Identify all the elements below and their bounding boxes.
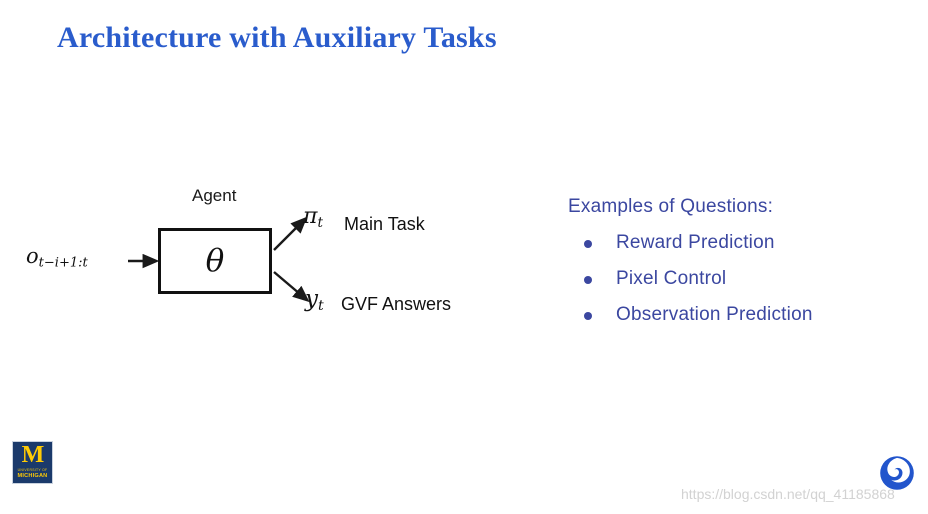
gvf-symbol-base: y — [305, 286, 318, 312]
bullet-icon — [584, 276, 592, 284]
list-item: Pixel Control — [568, 268, 908, 290]
list-item: Observation Prediction — [568, 304, 908, 326]
observation-input-label: ot−i+1:t — [26, 244, 88, 271]
watermark-text: https://blog.csdn.net/qq_41185868 — [681, 486, 895, 502]
questions-panel: Examples of Questions: Reward Prediction… — [568, 196, 908, 340]
main-task-label: Main Task — [344, 214, 425, 235]
bullet-icon — [584, 240, 592, 248]
questions-heading: Examples of Questions: — [568, 196, 908, 218]
observation-subscript: t−i+1:t — [39, 256, 88, 271]
um-letter-m: M — [22, 445, 44, 465]
diagram-arrows — [0, 0, 520, 380]
agent-box: θ — [158, 228, 272, 294]
bullet-icon — [584, 312, 592, 320]
list-item-label: Pixel Control — [616, 268, 726, 289]
policy-symbol-base: π — [303, 204, 317, 229]
theta-symbol: θ — [161, 231, 269, 291]
um-logo-line2: MICHIGAN — [18, 473, 48, 480]
agent-label: Agent — [192, 186, 236, 206]
observation-base: o — [26, 244, 39, 268]
architecture-diagram: Agent θ ot−i+1:t πt Main Task yt GVF Ans… — [0, 0, 520, 380]
university-of-michigan-logo: M UNIVERSITY OF MICHIGAN — [12, 441, 53, 484]
questions-list: Reward Prediction Pixel Control Observat… — [568, 232, 908, 326]
slide-canvas: Architecture with Auxiliary Tasks Agent … — [0, 0, 928, 514]
list-item: Reward Prediction — [568, 232, 908, 254]
gvf-output-symbol: yt — [305, 286, 324, 314]
gvf-symbol-subscript: t — [318, 298, 324, 314]
list-item-label: Observation Prediction — [616, 304, 813, 325]
gvf-answers-label: GVF Answers — [341, 294, 451, 315]
policy-output-symbol: πt — [303, 204, 323, 231]
list-item-label: Reward Prediction — [616, 232, 775, 253]
policy-symbol-subscript: t — [317, 215, 322, 231]
